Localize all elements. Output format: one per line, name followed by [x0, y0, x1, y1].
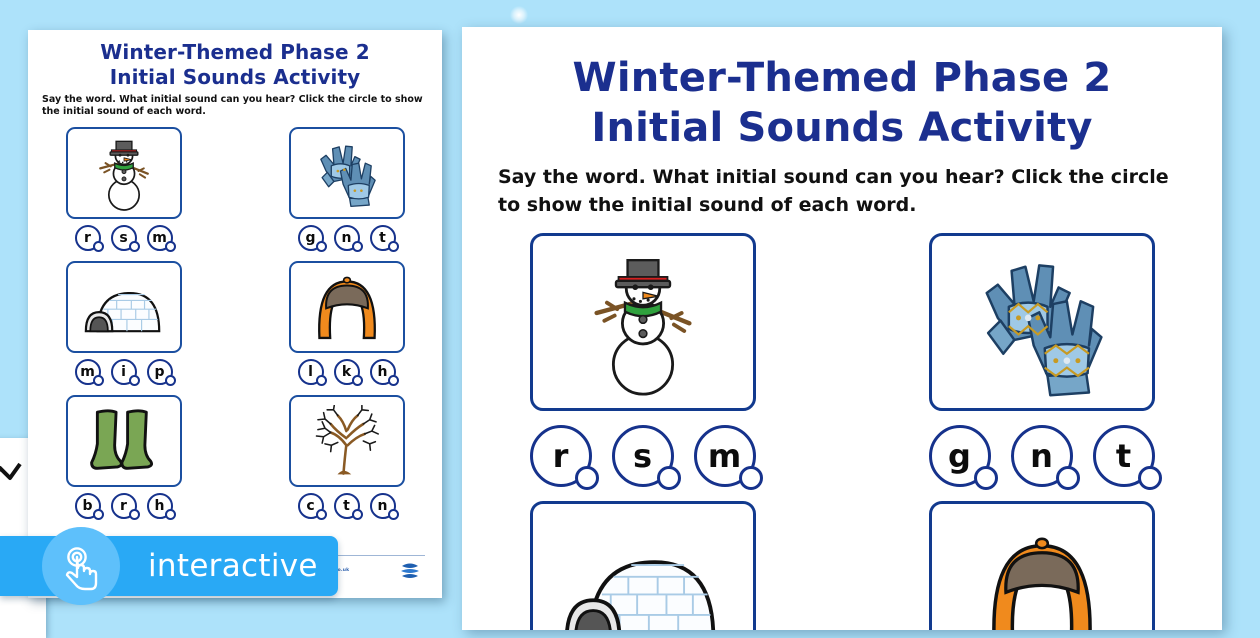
interactive-badge-label: interactive [148, 548, 318, 584]
boots-illustration [84, 405, 164, 477]
bubble-dot [388, 375, 399, 386]
thumbnail-activity-grid: r s m [42, 127, 428, 527]
picture-box[interactable] [530, 501, 756, 630]
letter-option[interactable]: g [298, 225, 324, 251]
bubble-dot [388, 509, 399, 520]
bubble-dot [739, 466, 763, 490]
igloo-illustration [555, 524, 731, 630]
thumbnail-item-boots: b r h [42, 395, 205, 527]
snowman-illustration [91, 134, 157, 212]
letter-option[interactable]: h [370, 359, 396, 385]
bubble-dot [575, 466, 599, 490]
picture-box[interactable] [929, 501, 1155, 630]
bubble-dot [1138, 466, 1162, 490]
background-sparkle [510, 6, 528, 24]
partial-artwork-icon [0, 452, 28, 492]
letter-option[interactable]: s [111, 225, 137, 251]
bubble-dot [93, 509, 104, 520]
bubble-dot [129, 241, 140, 252]
worksheet-thumbnail-page[interactable]: Winter-Themed Phase 2 Initial Sounds Act… [28, 30, 442, 598]
igloo-illustration [80, 274, 168, 340]
gloves-illustration [314, 137, 380, 209]
tap-hand-icon [42, 527, 120, 605]
worksheet-main-page[interactable]: Winter-Themed Phase 2 Initial Sounds Act… [462, 27, 1222, 630]
letter-options: r s m [75, 225, 173, 251]
letter-options: c t n [298, 493, 396, 519]
picture-box[interactable] [66, 395, 182, 487]
thumbnail-title-line1: Winter-Themed Phase 2 [42, 40, 428, 65]
hat-illustration [978, 525, 1106, 630]
letter-option[interactable]: c [298, 493, 324, 519]
letter-option[interactable]: t [370, 225, 396, 251]
picture-box[interactable] [929, 233, 1155, 411]
snowman-illustration [577, 246, 709, 398]
thumbnail-instructions: Say the word. What initial sound can you… [42, 94, 428, 118]
letter-option[interactable]: m [147, 225, 173, 251]
bubble-dot [388, 241, 399, 252]
thumbnail-item-tree: c t n [265, 395, 428, 527]
bubble-dot [352, 241, 363, 252]
thumbnail-item-igloo: m i p [42, 261, 205, 393]
thumbnail-item-hat: l k h [265, 261, 428, 393]
picture-box[interactable] [530, 233, 756, 411]
twinkl-logo [398, 561, 422, 581]
bubble-dot [93, 375, 104, 386]
page-instructions: Say the word. What initial sound can you… [498, 163, 1186, 219]
bubble-dot [316, 375, 327, 386]
bubble-dot [1056, 466, 1080, 490]
thumbnail-title-line2: Initial Sounds Activity [42, 65, 428, 90]
letter-option[interactable]: n [334, 225, 360, 251]
activity-item-gloves: g n t [897, 233, 1186, 499]
picture-box[interactable] [289, 261, 405, 353]
page-title-line1: Winter-Themed Phase 2 [498, 53, 1186, 103]
picture-box[interactable] [289, 395, 405, 487]
letter-option[interactable]: h [147, 493, 173, 519]
letter-option[interactable]: g [929, 425, 991, 487]
bubble-dot [352, 375, 363, 386]
letter-option[interactable]: m [75, 359, 101, 385]
letter-option[interactable]: s [612, 425, 674, 487]
interactive-badge[interactable]: interactive [0, 536, 338, 596]
letter-options: g n t [298, 225, 396, 251]
bubble-dot [129, 375, 140, 386]
bubble-dot [974, 466, 998, 490]
gloves-illustration [972, 246, 1112, 398]
activity-grid: r s m [498, 233, 1186, 630]
picture-box[interactable] [66, 261, 182, 353]
hat-illustration [310, 272, 384, 342]
letter-options: r s m [530, 425, 756, 487]
bubble-dot [129, 509, 140, 520]
letter-option[interactable]: r [111, 493, 137, 519]
bubble-dot [165, 241, 176, 252]
letter-options: m i p [75, 359, 173, 385]
letter-option[interactable]: n [370, 493, 396, 519]
bubble-dot [165, 509, 176, 520]
bubble-dot [316, 241, 327, 252]
tree-illustration [308, 405, 386, 477]
letter-option[interactable]: i [111, 359, 137, 385]
thumbnail-item-gloves: g n t [265, 127, 428, 259]
letter-options: b r h [75, 493, 173, 519]
activity-item-hat [897, 501, 1186, 630]
activity-item-snowman: r s m [498, 233, 787, 499]
letter-option[interactable]: m [694, 425, 756, 487]
bubble-dot [657, 466, 681, 490]
bubble-dot [316, 509, 327, 520]
thumbnail-item-snowman: r s m [42, 127, 205, 259]
picture-box[interactable] [289, 127, 405, 219]
picture-box[interactable] [66, 127, 182, 219]
letter-option[interactable]: k [334, 359, 360, 385]
letter-option[interactable]: p [147, 359, 173, 385]
letter-option[interactable]: r [530, 425, 592, 487]
bubble-dot [93, 241, 104, 252]
activity-item-igloo [498, 501, 787, 630]
letter-options: l k h [298, 359, 396, 385]
letter-option[interactable]: l [298, 359, 324, 385]
letter-option[interactable]: t [1093, 425, 1155, 487]
letter-option[interactable]: n [1011, 425, 1073, 487]
letter-option[interactable]: t [334, 493, 360, 519]
letter-options: g n t [929, 425, 1155, 487]
letter-option[interactable]: b [75, 493, 101, 519]
bubble-dot [165, 375, 176, 386]
letter-option[interactable]: r [75, 225, 101, 251]
page-title-line2: Initial Sounds Activity [498, 103, 1186, 153]
bubble-dot [352, 509, 363, 520]
